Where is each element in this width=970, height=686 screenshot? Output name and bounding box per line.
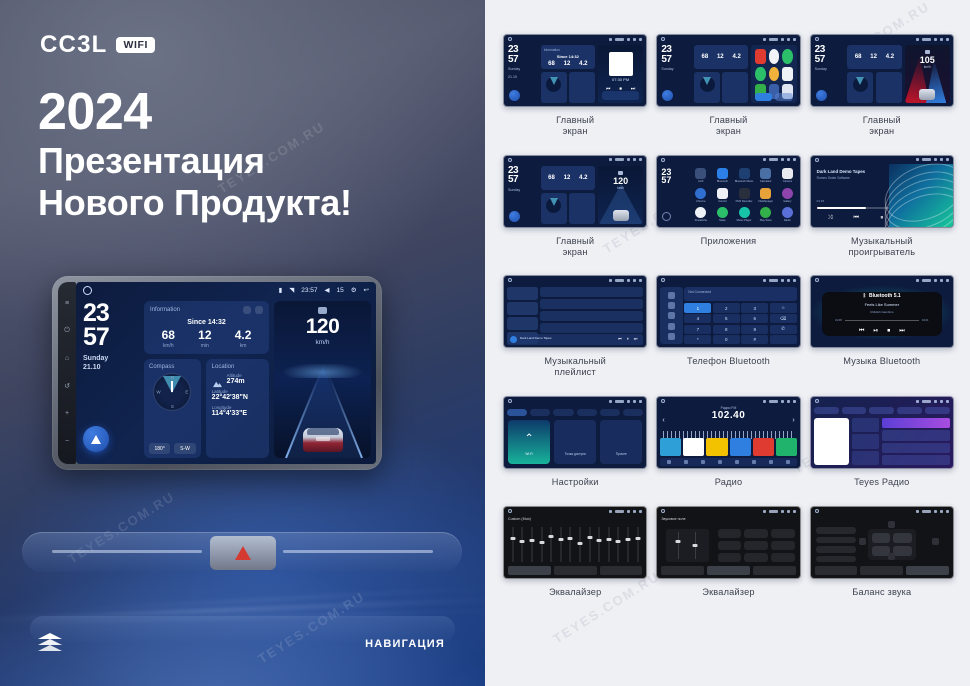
gallery-caption: Приложения — [701, 236, 757, 247]
mini-stats: 68 12 4.2 — [544, 168, 592, 187]
thumb-status-bar — [504, 507, 646, 515]
app-tile[interactable]: Maps — [713, 206, 732, 224]
gallery-caption: Настройки — [552, 477, 599, 488]
app-grid[interactable]: AUX Bluetooth Bluetooth Music Calculator… — [691, 167, 796, 224]
screenshot-home-drive-red[interactable]: 23 57 Sunday 68 12 4.2 — [810, 34, 954, 107]
tune-up-icon[interactable]: › — [792, 417, 794, 424]
preset-station[interactable] — [683, 438, 704, 456]
tab-system[interactable] — [600, 409, 620, 416]
gallery-item[interactable]: Teyes Радио — [810, 396, 954, 502]
af-icon[interactable] — [769, 460, 773, 464]
stat-value: 68 — [162, 329, 175, 341]
key-star[interactable]: * — [684, 335, 711, 344]
teyes-tabs[interactable] — [814, 407, 950, 414]
mini-day: Sunday — [815, 67, 845, 72]
key-9[interactable]: 9 — [741, 325, 768, 334]
key-0[interactable]: 0 — [713, 335, 740, 344]
preset-pop[interactable] — [744, 529, 768, 538]
volume-down-hw-button[interactable]: − — [63, 438, 71, 446]
settings-cards[interactable]: ⌃ Wi-Fi Точка доступа Прочее — [508, 420, 642, 464]
screenshot-equalizer-sliders[interactable]: Custom (Мои) — [503, 506, 647, 579]
bluetooth-icon: ᛒ — [863, 293, 866, 299]
preset-dance[interactable] — [771, 541, 795, 550]
eq-slider[interactable] — [586, 527, 594, 562]
gallery-item[interactable]: 23 57 Sunday 68 12 4.2 — [503, 155, 647, 272]
eq-slider[interactable] — [547, 527, 555, 562]
mini-speed-unit: km/h — [905, 65, 950, 69]
gallery-item[interactable]: ᛒBluetooth 5.1 Feels Like Summer Childis… — [810, 275, 954, 392]
key-2[interactable]: 2 — [713, 303, 740, 312]
list-item[interactable] — [540, 299, 644, 309]
preset-classic[interactable] — [718, 541, 742, 550]
power-hw-button[interactable]: ⏻ — [63, 327, 71, 335]
station-list[interactable] — [882, 418, 950, 465]
preset-station[interactable] — [660, 438, 681, 456]
wifi-icon: ⌃ — [524, 431, 533, 444]
status-icons — [609, 38, 642, 41]
light-streak — [0, 609, 485, 624]
sidebar-item-folders[interactable] — [507, 317, 538, 329]
mini-widgets: 68 12 4.2 — [541, 166, 595, 224]
key-3[interactable]: 3 — [741, 303, 768, 312]
eq-slider[interactable] — [615, 527, 623, 562]
key-4[interactable]: 4 — [684, 314, 711, 323]
preset-vocal[interactable] — [744, 541, 768, 550]
mini-nav-button[interactable] — [816, 90, 827, 101]
tab-item[interactable] — [925, 407, 950, 414]
setting-card-wifi[interactable]: ⌃ Wi-Fi — [508, 420, 550, 464]
list-icon[interactable] — [701, 460, 705, 464]
app-tile[interactable]: Gallery — [778, 186, 797, 204]
status-icons — [916, 400, 949, 403]
mini-minutes: 57 — [661, 55, 691, 65]
balance-up-icon[interactable] — [888, 521, 895, 528]
balance-controls[interactable] — [816, 527, 856, 562]
app-tile[interactable]: Control — [713, 186, 732, 204]
speaker-front-right — [893, 533, 912, 543]
screenshot-home-media[interactable]: 23 57 Sunday 21.10 Information Since 14:… — [503, 34, 647, 107]
kinoafisha-icon — [695, 207, 706, 218]
thumb-status-bar — [504, 397, 646, 405]
app-tile[interactable]: Bluetooth Music — [735, 167, 754, 185]
eq-tabs[interactable] — [508, 566, 642, 575]
car-dashboard — [0, 496, 485, 686]
eq-icon[interactable] — [718, 460, 722, 464]
home-hw-button[interactable]: ⌂ — [63, 355, 71, 363]
screenshot-bluetooth-phone[interactable]: Not Connected 1 2 3 ☆ 4 5 6 ⌫ 7 8 9 — [656, 275, 800, 348]
gallery-item[interactable]: 23 57 Sunday 68 12 4.2 — [656, 34, 800, 151]
mini-compass — [541, 72, 567, 103]
information-card-title: Information — [150, 307, 180, 313]
now-playing-title: Dark Land Demo Tapes — [520, 336, 551, 340]
status-icons — [609, 279, 642, 282]
status-icons — [763, 279, 796, 282]
screenshot-home-apps[interactable]: 23 57 Sunday 68 12 4.2 — [656, 34, 800, 107]
stop-icon[interactable]: ⏹ — [887, 328, 890, 335]
eq-field-label: Звуковое поле — [661, 517, 685, 521]
ta-icon[interactable] — [752, 460, 756, 464]
status-icons — [763, 38, 796, 41]
album-art — [814, 418, 849, 465]
key-8[interactable]: 8 — [713, 325, 740, 334]
watermark: TEYES.COM.RU — [65, 489, 177, 567]
headline-line-1: Презентация — [38, 141, 352, 181]
home-icon — [815, 158, 819, 162]
mountain-icon — [212, 375, 223, 383]
mini-day: Sunday — [508, 67, 538, 72]
car-graphic — [303, 426, 343, 452]
tab-time[interactable] — [577, 409, 597, 416]
control-front[interactable] — [816, 527, 856, 534]
app-tile[interactable]: Camera — [778, 167, 797, 185]
list-item[interactable] — [540, 287, 644, 297]
list-item[interactable] — [882, 418, 950, 428]
settings-icon[interactable] — [668, 333, 675, 340]
control-left[interactable] — [816, 546, 856, 553]
eq-slider[interactable] — [576, 527, 584, 562]
lower-widgets: Compass N S W E — [144, 359, 269, 458]
dialpad-icon[interactable] — [668, 292, 675, 299]
screenshot-home-drive-blue[interactable]: 23 57 Sunday 68 12 4.2 — [503, 155, 647, 228]
list-item[interactable] — [882, 430, 950, 440]
previous-icon[interactable]: ⏮ — [853, 215, 858, 222]
eq-slider[interactable] — [595, 527, 603, 562]
bt-track: Feels Like Summer — [865, 302, 899, 307]
preset-station[interactable] — [730, 438, 751, 456]
gallery-item[interactable]: 2357 AUX Bluetooth Bluetooth Music Calcu… — [656, 155, 800, 272]
drive-panel[interactable]: 120 km/h — [274, 301, 371, 458]
dashboard-vent — [22, 532, 462, 572]
back-hw-button[interactable]: ↺ — [63, 383, 71, 391]
apps-clock: 2357 — [661, 168, 671, 185]
key-5[interactable]: 5 — [713, 314, 740, 323]
headline-line-2: Нового Продукта! — [38, 183, 352, 223]
app-tile[interactable]: FileManager — [756, 186, 775, 204]
radio-icon — [782, 207, 793, 218]
thumb-status-bar — [811, 276, 953, 284]
volume-up-hw-button[interactable]: + — [63, 410, 71, 418]
mini-stats: 68 12 4.2 — [850, 48, 898, 67]
app-tile[interactable]: Calculator — [756, 167, 775, 185]
hero-panel: TEYES.COM.RU TEYES.COM.RU TEYES.COM.RU C… — [0, 0, 485, 686]
play-pause-icon[interactable]: ⏯ — [873, 328, 878, 335]
eq-slider[interactable] — [624, 527, 632, 562]
bt-controls[interactable]: ⏮ ⏯ ⏹ ⏭ — [859, 328, 905, 335]
home-screen-body: 23 57 Sunday 21.10 — [76, 298, 376, 464]
track-position: 01:15 — [817, 199, 825, 203]
eq-slider[interactable] — [605, 527, 613, 562]
tab-balance[interactable] — [906, 566, 949, 575]
navigation-button[interactable] — [83, 426, 109, 452]
search-icon[interactable] — [668, 312, 675, 319]
list-item[interactable] — [540, 311, 644, 321]
key-hash[interactable]: # — [741, 335, 768, 344]
tab-balance[interactable] — [753, 566, 796, 575]
tab-item[interactable] — [897, 407, 922, 414]
setting-label: Wi-Fi — [508, 452, 550, 456]
latitude-value: 22°42'38"N — [212, 394, 263, 401]
mini-speed-unit: km/h — [598, 186, 643, 190]
mini-nav-button[interactable] — [509, 90, 520, 101]
maps-icon — [717, 207, 728, 218]
balance-down-icon[interactable] — [888, 553, 895, 560]
preset-station[interactable] — [753, 438, 774, 456]
tab-eq[interactable] — [661, 566, 704, 575]
sidebar-item-list[interactable] — [507, 287, 538, 299]
mini-info-card: 68 12 4.2 — [847, 45, 901, 69]
phone-sidebar[interactable] — [660, 287, 683, 344]
clock-date: 21.10 — [83, 363, 139, 372]
back-icon[interactable] — [662, 212, 671, 221]
balance-right-icon[interactable] — [932, 538, 939, 545]
eq-slider[interactable] — [528, 527, 536, 562]
next-icon[interactable]: ⏭ — [899, 328, 904, 335]
app-tile[interactable]: Bluetooth — [713, 167, 732, 185]
radio-frequency: 102.40 — [657, 410, 799, 421]
balance-left-icon[interactable] — [859, 538, 866, 545]
favorite-icon[interactable]: ☆ — [770, 303, 797, 312]
compass-card[interactable]: Compass N S W E — [144, 359, 201, 458]
preset-buttons[interactable] — [718, 529, 795, 562]
aux-icon — [695, 168, 706, 179]
speed-unit: km/h — [274, 339, 371, 346]
tab-field[interactable] — [707, 566, 750, 575]
setting-card-hotspot[interactable]: Точка доступа — [554, 420, 596, 464]
mini-compass — [541, 193, 567, 224]
gallery-caption: Эквалайзер — [702, 587, 754, 598]
compass-dial: N S W E — [153, 373, 191, 411]
mini-drive-widget: 105 km/h — [905, 45, 950, 103]
pause-icon[interactable]: ⏸ — [880, 215, 883, 222]
gallery-item[interactable]: Not Connected 1 2 3 ☆ 4 5 6 ⌫ 7 8 9 — [656, 275, 800, 392]
refresh-icon[interactable] — [243, 306, 251, 314]
setting-card-other[interactable]: Прочее — [600, 420, 642, 464]
status-bar-right: ▮ ◥ 23:57 ◀ 15 ⚙ ↩ — [279, 286, 369, 294]
preset-country[interactable] — [744, 553, 768, 562]
app-tile[interactable]: Music Player — [735, 206, 754, 224]
settings-icon[interactable] — [786, 460, 790, 464]
rds-icon[interactable] — [735, 460, 739, 464]
mini-stats: 68 12 4.2 — [697, 48, 745, 67]
status-icons — [916, 158, 949, 161]
mini-app-shortcuts[interactable] — [751, 45, 796, 103]
location-card[interactable]: Location Altitude 274m — [206, 359, 269, 458]
navigation-arrow-icon — [91, 435, 101, 444]
mini-widgets: 68 12 4.2 — [694, 45, 748, 103]
headlight-icon — [318, 307, 327, 314]
pause-icon[interactable]: ⏸ — [627, 336, 629, 341]
hazard-button[interactable] — [210, 536, 276, 570]
app-tile[interactable]: DVR Recorder — [735, 186, 754, 204]
preset-station[interactable] — [776, 438, 797, 456]
mini-stat: 4.2 — [732, 54, 740, 60]
recent-calls-icon[interactable] — [668, 323, 675, 330]
gallery-item[interactable]: 23 57 Sunday 68 12 4.2 — [810, 34, 954, 151]
dial-keypad[interactable]: 1 2 3 ☆ 4 5 6 ⌫ 7 8 9 ✆ * 0 # — [684, 303, 796, 344]
tab-field[interactable] — [860, 566, 903, 575]
preset-station[interactable] — [706, 438, 727, 456]
eq-slider[interactable] — [519, 527, 527, 562]
app-tile[interactable]: Play Store — [756, 206, 775, 224]
gallery-item[interactable]: Баланс звука — [810, 506, 954, 612]
gear-icon[interactable]: ⚙ — [351, 286, 357, 294]
gallery-caption: Радио — [715, 477, 743, 488]
screenshot-music-playlist[interactable]: Dark Land Demo Tapes ⏮⏸⏭ — [503, 275, 647, 348]
home-icon[interactable] — [83, 286, 92, 295]
previous-icon[interactable]: ⏮ — [618, 336, 622, 341]
trip-stats: 68 km/h 12 min 4.2 km — [150, 329, 263, 349]
bt-progress[interactable] — [845, 320, 919, 321]
dial-display: Not Connected — [684, 287, 796, 301]
settings-tabs[interactable] — [507, 408, 643, 417]
eq-slider[interactable] — [567, 527, 575, 562]
gallery-item[interactable]: 23 57 Sunday 21.10 Information Since 14:… — [503, 34, 647, 151]
tab-item[interactable] — [869, 407, 894, 414]
head-unit-screen[interactable]: ▮ ◥ 23:57 ◀ 15 ⚙ ↩ 23 — [76, 282, 376, 464]
mini-lower — [541, 72, 595, 103]
mini-nav-button[interactable] — [509, 211, 520, 222]
control-rear[interactable] — [816, 537, 856, 544]
list-item[interactable] — [882, 443, 950, 453]
information-card-actions — [243, 306, 263, 314]
track-list[interactable] — [540, 287, 644, 333]
since-label: Since 14:32 — [150, 319, 263, 326]
thumb-status-bar — [811, 397, 953, 405]
gallery-item[interactable]: Custom (Мои) — [503, 506, 647, 612]
screenshot-equalizer-presets[interactable]: Звуковое поле — [656, 506, 800, 579]
eq-slider[interactable] — [634, 527, 642, 562]
tab-eq[interactable] — [815, 566, 858, 575]
screenshot-teyes-radio[interactable] — [810, 396, 954, 469]
search-icon[interactable] — [684, 460, 688, 464]
tab-item[interactable] — [842, 407, 867, 414]
gallery-item[interactable]: Звуковое поле — [656, 506, 800, 612]
volume-icon[interactable]: ◀ — [324, 286, 329, 294]
dvr-icon — [739, 188, 750, 199]
teyes-body — [814, 418, 950, 465]
now-playing-bar[interactable]: Dark Land Demo Tapes ⏮⏸⏭ — [507, 334, 643, 345]
screenshot-apps[interactable]: 2357 AUX Bluetooth Bluetooth Music Calcu… — [656, 155, 800, 228]
mini-location — [569, 72, 595, 103]
mini-minutes: 57 — [815, 55, 845, 65]
mini-day: Sunday — [661, 67, 691, 72]
back-icon[interactable]: ↩ — [364, 286, 369, 294]
thumb-status-bar — [504, 156, 646, 164]
contacts-icon[interactable] — [668, 302, 675, 309]
track-title: Dark Land Demo Tapes — [817, 169, 883, 174]
audio-visualizer — [889, 164, 953, 227]
eq-sliders[interactable] — [509, 527, 641, 562]
call-icon[interactable]: ✆ — [770, 325, 797, 334]
preset-stations[interactable] — [660, 438, 796, 456]
gallery-item[interactable]: Dark Land Demo Tapes Romeo Drake Softwar… — [810, 155, 954, 272]
compass-n: N — [171, 375, 174, 380]
wifi-icon: ◥ — [289, 286, 294, 294]
previous-icon[interactable]: ⏮ — [859, 328, 864, 335]
screenshot-settings[interactable]: ⌃ Wi-Fi Точка доступа Прочее — [503, 396, 647, 469]
gallery-item[interactable]: Dark Land Demo Tapes ⏮⏸⏭ Музыкальныйплей… — [503, 275, 647, 392]
tab-field[interactable] — [554, 566, 597, 575]
wifi-badge: WIFI — [116, 37, 155, 53]
stat-value: 4.2 — [235, 329, 252, 341]
app-tile[interactable]: Kinoafisha — [691, 206, 710, 224]
next-icon[interactable]: ⏭ — [634, 336, 638, 341]
tune-down-icon[interactable]: ‹ — [662, 417, 664, 424]
tab-eq[interactable] — [508, 566, 551, 575]
compass-w: W — [156, 390, 160, 395]
eq-slider[interactable] — [557, 527, 565, 562]
app-tile[interactable]: Radio — [778, 206, 797, 224]
preset-bass[interactable] — [718, 553, 742, 562]
mini-home: 23 57 Sunday 21.10 Information Since 14:… — [504, 43, 646, 106]
mini-stat: 68 — [548, 175, 555, 181]
eq-tabs[interactable] — [815, 566, 949, 575]
shuffle-icon[interactable]: ⤨ — [827, 215, 832, 222]
screenshot-radio[interactable]: Радио FM 102.40 ‹ › — [656, 396, 800, 469]
home-icon — [815, 509, 819, 513]
key-7[interactable]: 7 — [684, 325, 711, 334]
app-tile[interactable]: AUX — [691, 167, 710, 185]
list-item[interactable] — [882, 455, 950, 465]
key-6[interactable]: 6 — [741, 314, 768, 323]
mini-lower — [541, 193, 595, 224]
tab-balance[interactable] — [600, 566, 643, 575]
head-unit-bezel: ≡ ⏻ ⌂ ↺ + − ▮ ◥ 23:57 ◀ — [52, 276, 382, 470]
status-icons — [609, 510, 642, 513]
tab-wifi[interactable] — [507, 409, 527, 416]
sidebar-item-search[interactable] — [507, 302, 538, 314]
app-tile[interactable]: Chrome — [691, 186, 710, 204]
field-sliders[interactable] — [666, 529, 709, 562]
key-1[interactable]: 1 — [684, 303, 711, 312]
menu-hw-button[interactable]: ≡ — [63, 300, 71, 308]
status-icons — [916, 38, 949, 41]
preset-rock[interactable] — [718, 529, 742, 538]
hardware-button-rail[interactable]: ≡ ⏻ ⌂ ↺ + − — [58, 282, 76, 464]
eq-slider[interactable] — [538, 527, 546, 562]
control-right[interactable] — [816, 556, 856, 563]
gallery-item[interactable]: ⌃ Wi-Fi Точка доступа Прочее Настройки — [503, 396, 647, 502]
screenshot-bluetooth-music[interactable]: ᛒBluetooth 5.1 Feels Like Summer Childis… — [810, 275, 954, 348]
tab-sound[interactable] — [530, 409, 550, 416]
compass-e: E — [185, 390, 188, 395]
delete-icon[interactable]: ⌫ — [770, 314, 797, 323]
play-store-icon — [760, 207, 771, 218]
expand-icon[interactable] — [255, 306, 263, 314]
preset-jazz[interactable] — [771, 529, 795, 538]
eq-tabs[interactable] — [661, 566, 795, 575]
location-card-title: Location — [212, 364, 263, 370]
screenshot-sound-balance[interactable] — [810, 506, 954, 579]
band-icon[interactable] — [667, 460, 671, 464]
stat-unit: km — [235, 343, 252, 349]
preset-flat[interactable] — [771, 553, 795, 562]
information-card[interactable]: Information Since 14:32 68 — [144, 301, 269, 354]
altitude-row: Altitude 274m — [212, 373, 263, 385]
eq-slider[interactable] — [509, 527, 517, 562]
mini-drive-widget: 120 km/h — [598, 166, 643, 224]
tab-item[interactable] — [814, 407, 839, 414]
mini-media-time: 07:30 PM — [598, 77, 643, 82]
radio-toolbar[interactable] — [660, 458, 796, 466]
screenshot-music-player[interactable]: Dark Land Demo Tapes Romeo Drake Softwar… — [810, 155, 954, 228]
tab-display[interactable] — [553, 409, 573, 416]
stat-item: 4.2 km — [235, 329, 252, 349]
list-item[interactable] — [540, 323, 644, 333]
tab-about[interactable] — [623, 409, 643, 416]
gallery-item[interactable]: Радио FM 102.40 ‹ › — [656, 396, 800, 502]
setting-label: Прочее — [600, 452, 642, 456]
